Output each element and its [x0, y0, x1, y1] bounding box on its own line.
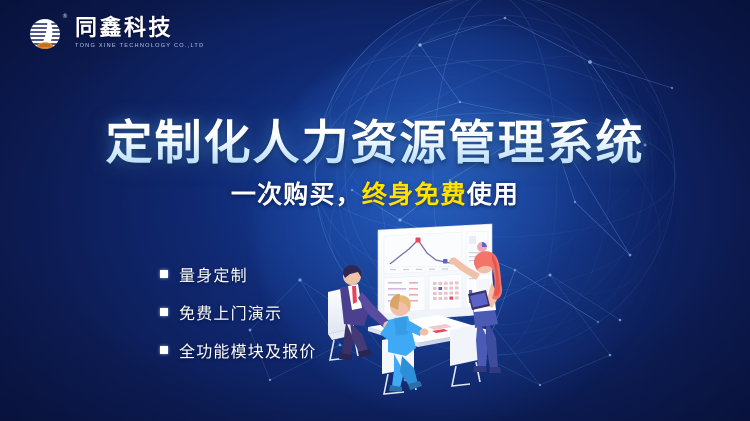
list-item[interactable]: 免费上门演示	[160, 300, 317, 324]
square-bullet-icon	[160, 346, 168, 354]
subtitle-highlight: 终身免费	[362, 180, 467, 209]
registered-trademark-icon: ®	[62, 13, 68, 20]
page-title: 定制化人力资源管理系统	[0, 104, 750, 173]
subtitle-part2: 使用	[467, 180, 519, 209]
square-bullet-icon	[160, 308, 168, 316]
business-presentation-illustration	[310, 222, 540, 377]
feature-list: 量身定制 免费上门演示 全功能模块及报价	[160, 262, 317, 362]
list-item[interactable]: 全功能模块及报价	[160, 338, 317, 362]
brand-name-en: TONG XINE TECHNOLOGY CO.,LTD	[75, 44, 204, 50]
list-item-label: 量身定制	[179, 262, 248, 286]
brand-name-cn: 同鑫科技	[75, 18, 204, 40]
square-bullet-icon	[160, 270, 168, 278]
promo-banner: ® 同鑫科技 TONG XINE TECHNOLOGY CO.,LTD 定制化人…	[0, 0, 750, 421]
brand-logo[interactable]: ® 同鑫科技 TONG XINE TECHNOLOGY CO.,LTD	[26, 14, 204, 54]
subtitle-part1: 一次购买，	[231, 180, 362, 209]
list-item-label: 免费上门演示	[179, 300, 282, 324]
tongxin-globe-sail-icon: ®	[26, 14, 66, 54]
list-item[interactable]: 量身定制	[160, 262, 317, 286]
subtitle: 一次购买，终身免费使用	[0, 175, 750, 211]
list-item-label: 全功能模块及报价	[179, 338, 317, 362]
